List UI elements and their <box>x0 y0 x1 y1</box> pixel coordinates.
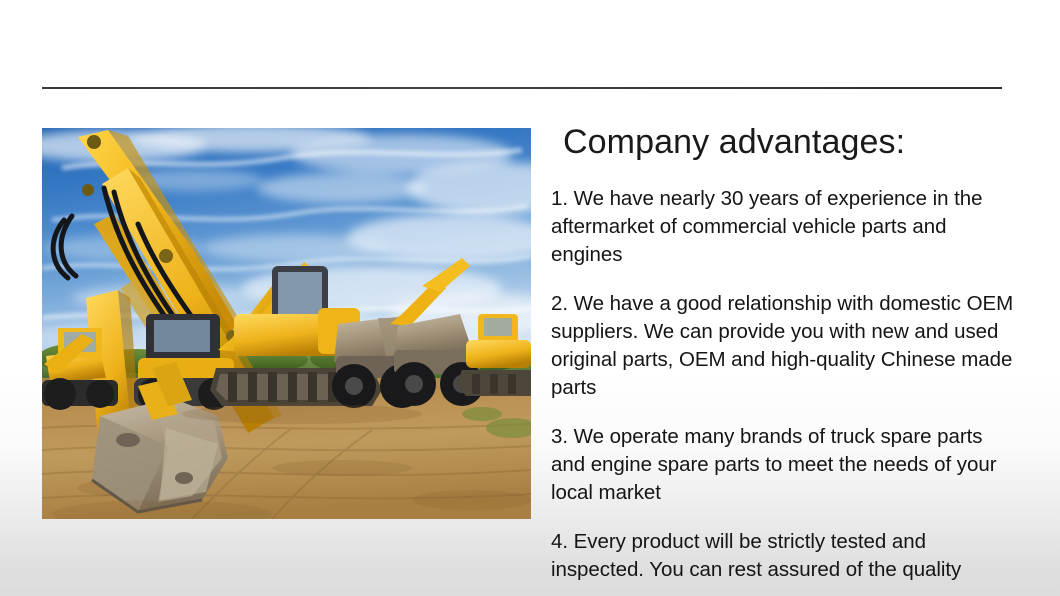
slide: Company advantages: 1. We have nearly 30… <box>0 0 1060 596</box>
advantage-item-1: 1. We have nearly 30 years of experience… <box>551 185 1019 270</box>
page-title: Company advantages: <box>563 120 1021 164</box>
advantage-item-3: 3. We operate many brands of truck spare… <box>551 423 1019 508</box>
header-divider <box>42 87 1002 89</box>
advantages-list: 1. We have nearly 30 years of experience… <box>551 185 1021 596</box>
advantage-item-4: 4. Every product will be strictly tested… <box>551 528 1019 584</box>
construction-photo <box>42 128 531 519</box>
advantage-item-2: 2. We have a good relationship with dome… <box>551 290 1019 403</box>
advantages-content: Company advantages: 1. We have nearly 30… <box>551 120 1021 596</box>
construction-photo-illustration <box>42 128 531 519</box>
